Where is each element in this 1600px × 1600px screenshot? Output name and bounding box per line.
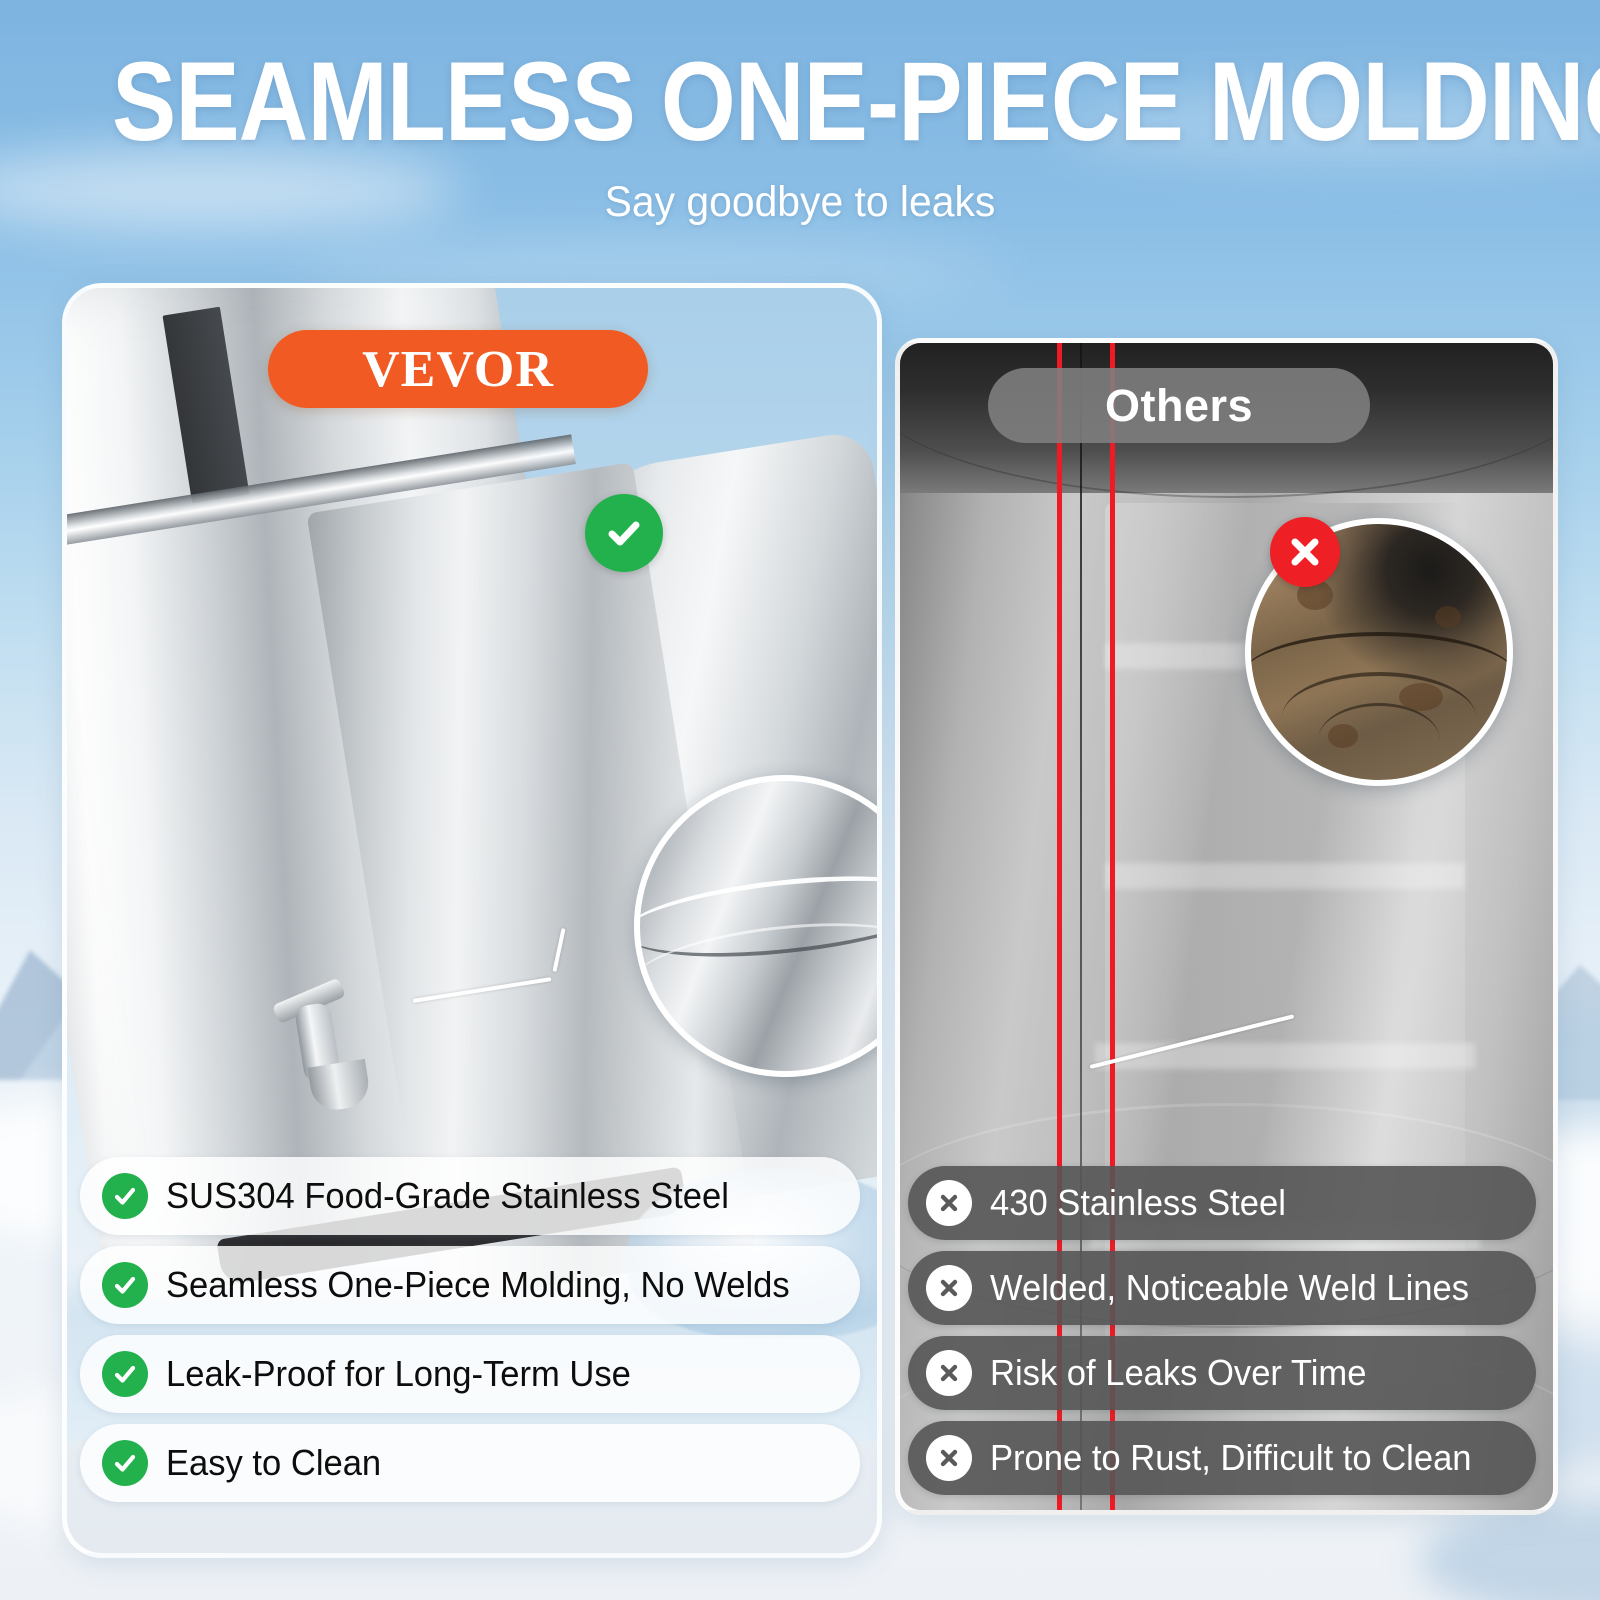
list-item: Prone to Rust, Difficult to Clean — [908, 1421, 1536, 1495]
feature-label: SUS304 Food-Grade Stainless Steel — [166, 1176, 729, 1216]
feature-label: Welded, Noticeable Weld Lines — [990, 1268, 1469, 1308]
spigot-nozzle — [307, 1059, 371, 1114]
tank-reflection-band — [1105, 863, 1465, 889]
feature-label: Easy to Clean — [166, 1443, 381, 1483]
list-item: Easy to Clean — [80, 1424, 860, 1502]
feature-label: 430 Stainless Steel — [990, 1183, 1286, 1223]
feature-label: Seamless One-Piece Molding, No Welds — [166, 1265, 790, 1305]
check-circle-icon — [102, 1440, 148, 1486]
cross-circle-icon — [926, 1435, 972, 1481]
page-subtitle: Say goodbye to leaks — [40, 176, 1560, 228]
cross-circle-icon — [926, 1350, 972, 1396]
check-circle-icon — [102, 1262, 148, 1308]
vevor-feature-list: SUS304 Food-Grade Stainless Steel Seamle… — [80, 1157, 860, 1513]
infographic-canvas: SEAMLESS ONE-PIECE MOLDING Say goodbye t… — [0, 0, 1600, 1600]
tank-reflection-band — [1095, 1043, 1475, 1069]
snow-drift — [1420, 1500, 1600, 1600]
rust-speck — [1399, 683, 1443, 711]
dispenser-spigot — [266, 980, 398, 1145]
rust-speck — [1328, 724, 1358, 748]
page-title: SEAMLESS ONE-PIECE MOLDING — [112, 46, 1488, 158]
others-feature-list: 430 Stainless Steel Welded, Noticeable W… — [908, 1166, 1536, 1506]
feature-label: Prone to Rust, Difficult to Clean — [990, 1438, 1472, 1478]
list-item: 430 Stainless Steel — [908, 1166, 1536, 1240]
check-circle-icon — [102, 1173, 148, 1219]
list-item: Welded, Noticeable Weld Lines — [908, 1251, 1536, 1325]
others-badge: Others — [988, 368, 1370, 443]
feature-label: Leak-Proof for Long-Term Use — [166, 1354, 631, 1394]
vevor-logo-badge: VEVOR — [268, 330, 648, 408]
cross-circle-icon — [926, 1265, 972, 1311]
rust-speck — [1435, 606, 1461, 628]
feature-label: Risk of Leaks Over Time — [990, 1353, 1366, 1393]
list-item: SUS304 Food-Grade Stainless Steel — [80, 1157, 860, 1235]
list-item: Leak-Proof for Long-Term Use — [80, 1335, 860, 1413]
check-circle-icon — [102, 1351, 148, 1397]
list-item: Risk of Leaks Over Time — [908, 1336, 1536, 1410]
check-circle-icon — [585, 494, 663, 572]
list-item: Seamless One-Piece Molding, No Welds — [80, 1246, 860, 1324]
cross-circle-icon — [926, 1180, 972, 1226]
cross-circle-icon — [1270, 517, 1340, 587]
